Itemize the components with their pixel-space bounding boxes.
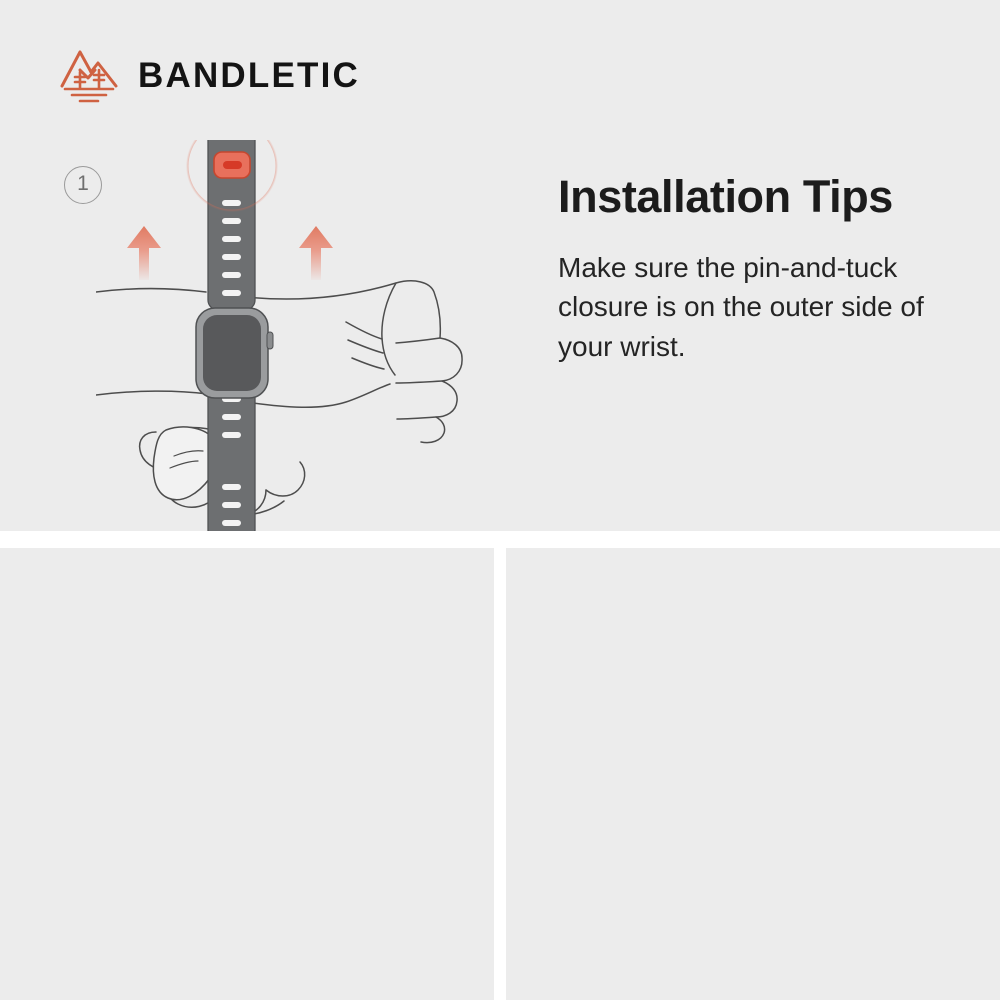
pin-slot xyxy=(223,161,242,169)
tips-block: Installation Tips Make sure the pin-and-… xyxy=(558,172,958,367)
tips-body: Make sure the pin-and-tuck closure is on… xyxy=(558,248,958,367)
panel-step-1: BANDLETIC 1 Installation Tips Make sure … xyxy=(0,0,1000,531)
panel-step-2: 2 Then adjust the pin for a comfortable … xyxy=(0,548,494,1000)
brand-lockup: BANDLETIC xyxy=(58,44,360,106)
direction-arrow-up-right xyxy=(299,226,333,280)
direction-arrow-up-left xyxy=(127,226,161,280)
watch-screen xyxy=(203,315,261,391)
mountain-trees-lake-icon xyxy=(58,44,120,106)
panel-step-3: 3 Push the pin into the correct position… xyxy=(506,548,1000,1000)
brand-name: BANDLETIC xyxy=(138,58,360,93)
tips-title: Installation Tips xyxy=(558,172,958,222)
watch-crown xyxy=(267,332,273,349)
infographic-page: BANDLETIC 1 Installation Tips Make sure … xyxy=(0,0,1000,1000)
step-badge-1: 1 xyxy=(64,166,102,204)
illustration-watch-on-wrist xyxy=(96,140,476,531)
